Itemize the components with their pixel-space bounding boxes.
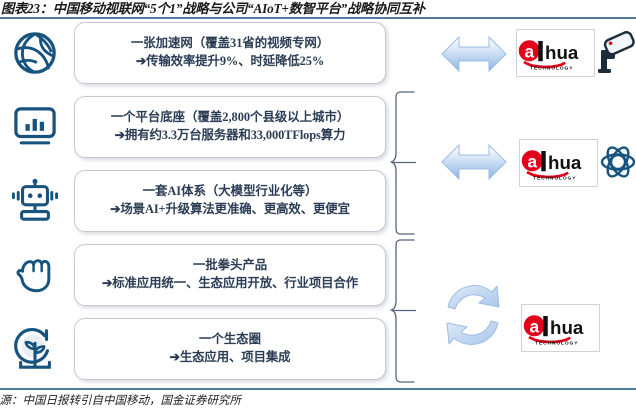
strategy-box-flagship-products[interactable]: 一批拳头产品 ➔标准应用统一、生态应用开放、行业项目合作 [74, 244, 386, 306]
box-line-1: 一批拳头产品 [193, 257, 267, 275]
globe-network-icon [4, 22, 66, 84]
strategy-box-ecosystem[interactable]: 一个生态圈 ➔生态应用、项目集成 [74, 318, 386, 380]
diagram-canvas: 一张加速网（覆盖31省的视频专网） ➔传输效率提升9%、时延降低25% 一个平台… [0, 20, 636, 388]
svg-text:TECHNOLOGY: TECHNOLOGY [535, 341, 578, 347]
strategy-box-platform-base[interactable]: 一个平台底座（覆盖2,800个县级以上城市） ➔拥有约3.3万台服务器和33,0… [74, 96, 386, 158]
figure-container: 图表23：中国移动视联网“5个1”战略与公司“AIoT+数智平台”战略协同互补 [0, 0, 636, 414]
brace-products-ecosystem [390, 238, 416, 384]
svg-text:hua: hua [550, 317, 584, 338]
box-line-1: 一套AI体系（大模型行业化等） [143, 183, 318, 201]
left-icon-column [4, 20, 66, 388]
page-title: 图表23：中国移动视联网“5个1”战略与公司“AIoT+数智平台”战略协同互补 [0, 0, 425, 17]
source-note: 来源：中国日报转引自中国移动，国金证券研究所 [0, 392, 241, 408]
svg-text:hua: hua [548, 152, 582, 173]
box-line-1: 一张加速网（覆盖31省的视频专网） [131, 35, 329, 53]
box-line-2: ➔拥有约3.3万台服务器和33,000TFlops算力 [115, 127, 346, 145]
box-line-2: ➔场景AI+升级算法更准确、更高效、更便宜 [110, 201, 350, 219]
box-line-2: ➔生态应用、项目集成 [170, 349, 291, 367]
monitor-chart-icon [4, 96, 66, 158]
atom-icon [600, 141, 636, 183]
strategy-box-ai-system[interactable]: 一套AI体系（大模型行业化等） ➔场景AI+升级算法更准确、更高效、更便宜 [74, 170, 386, 232]
fist-icon [4, 244, 66, 306]
cycle-arrows-bottom [434, 273, 512, 357]
title-divider [0, 17, 636, 19]
dahua-logo-top: a hua TECHNOLOGY [516, 29, 595, 77]
brace-platform-ai [390, 90, 416, 236]
box-line-2: ➔传输效率提升9%、时延降低25% [136, 53, 324, 71]
dahua-logo-middle: a hua TECHNOLOGY [519, 139, 598, 187]
robot-icon [4, 170, 66, 232]
strategy-box-accelerate-network[interactable]: 一张加速网（覆盖31省的视频专网） ➔传输效率提升9%、时延降低25% [74, 22, 386, 84]
box-line-2: ➔标准应用统一、生态应用开放、行业项目合作 [102, 275, 358, 293]
dahua-logo-bottom: a hua TECHNOLOGY [521, 304, 600, 352]
svg-text:TECHNOLOGY: TECHNOLOGY [533, 176, 576, 182]
svg-text:a: a [529, 317, 539, 337]
cctv-camera-icon [597, 29, 635, 75]
box-line-1: 一个生态圈 [199, 331, 261, 349]
bidirectional-arrow-middle [441, 142, 507, 182]
sapling-icon [4, 318, 66, 380]
figure-title-bar: 图表23：中国移动视联网“5个1”战略与公司“AIoT+数智平台”战略协同互补 [0, 0, 636, 18]
svg-text:a: a [527, 152, 537, 172]
svg-text:a: a [524, 42, 534, 62]
svg-text:hua: hua [545, 42, 579, 63]
bidirectional-arrow-top [441, 34, 507, 74]
box-line-1: 一个平台底座（覆盖2,800个县级以上城市） [111, 109, 350, 127]
svg-text:TECHNOLOGY: TECHNOLOGY [530, 66, 573, 72]
footer-divider [0, 388, 636, 390]
